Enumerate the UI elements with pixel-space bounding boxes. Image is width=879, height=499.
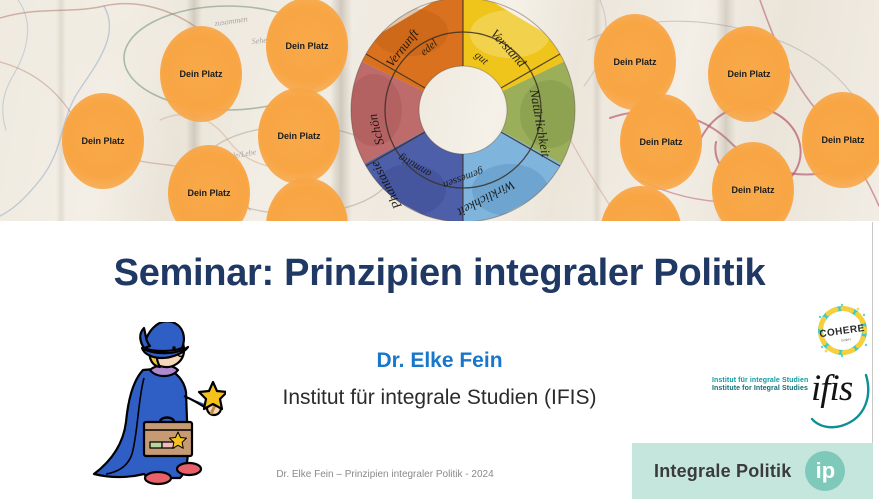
dein-platz-label: Dein Platz [639,137,682,147]
dein-platz-label: Dein Platz [731,185,774,195]
dein-platz-blob[interactable]: Dein Platz [160,26,242,122]
ifis-line-de: Institut für integrale Studien [712,377,810,385]
banner-image: zusammen Sehen Erde/Lebe Jente Ufer/frei [0,0,879,221]
dein-platz-label: Dein Platz [727,69,770,79]
dein-platz-blob[interactable]: Dein Platz [62,93,144,189]
integrale-politik-label: Integrale Politik [654,461,791,482]
dein-platz-blob[interactable]: Dein Platz [258,88,340,184]
ifis-line-en: Institute for Integral Studies [712,385,810,393]
cohere-logo: COHERE GmbH [812,301,873,360]
wizard-illustration [88,322,226,490]
ifis-wordmark: ifis [811,367,852,410]
dein-platz-blob[interactable]: Dein Platz [802,92,879,188]
presentation-slide: zusammen Sehen Erde/Lebe Jente Ufer/frei [0,0,879,499]
svg-text:zusammen: zusammen [213,14,248,28]
page-title: Seminar: Prinzipien integraler Politik [0,252,879,295]
color-wheel-graphic: Vernunft Verstand Natürlichkeit Wirklich… [340,0,586,221]
dein-platz-blob[interactable]: Dein Platz [620,94,702,190]
ifis-subtitle: Institut für integrale Studien Institute… [712,377,810,394]
svg-text:GmbH: GmbH [841,337,852,342]
dein-platz-label: Dein Platz [277,131,320,141]
ip-mark-icon: ip [805,451,845,491]
dein-platz-blob[interactable]: Dein Platz [266,0,348,94]
ifis-logo: Institut für integrale Studien Institute… [712,371,872,435]
dein-platz-label: Dein Platz [613,57,656,67]
integrale-politik-logo: Integrale Politik ip [632,443,873,499]
dein-platz-label: Dein Platz [179,69,222,79]
dein-platz-label: Dein Platz [187,188,230,198]
dein-platz-label: Dein Platz [285,41,328,51]
dein-platz-label: Dein Platz [81,136,124,146]
dein-platz-label: Dein Platz [821,135,864,145]
dein-platz-blob[interactable]: Dein Platz [708,26,790,122]
